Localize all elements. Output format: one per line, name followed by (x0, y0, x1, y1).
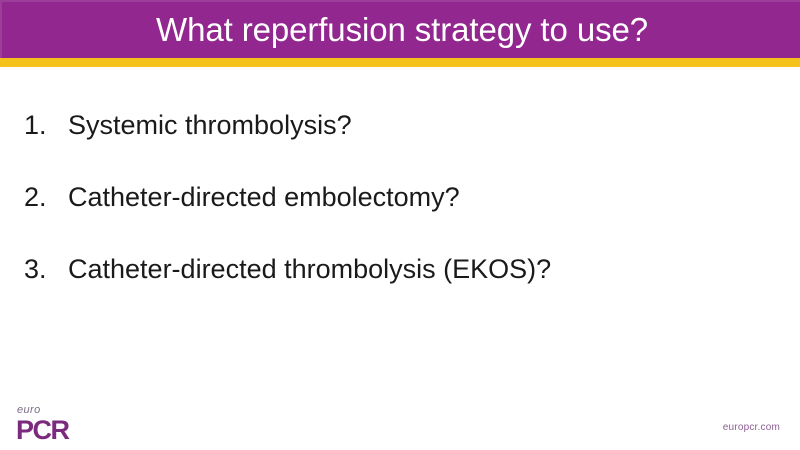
logo-pcr-text: PCR (16, 415, 69, 445)
list-item-number: 1. (24, 104, 64, 146)
list-item-label: Catheter-directed embolectomy? (68, 176, 460, 218)
europcr-logo: euro PCR (16, 404, 78, 446)
list-item: 3. Catheter-directed thrombolysis (EKOS)… (0, 248, 760, 320)
slide-canvas: What reperfusion strategy to use? 1. Sys… (0, 0, 800, 450)
footer-website-url: europcr.com (723, 421, 780, 434)
list-item-label: Systemic thrombolysis? (68, 104, 352, 146)
list-item-number: 2. (24, 176, 64, 218)
title-band: What reperfusion strategy to use? (0, 0, 800, 58)
numbered-list: 1. Systemic thrombolysis? 2. Catheter-di… (0, 104, 760, 320)
accent-divider (0, 58, 800, 67)
list-item-label: Catheter-directed thrombolysis (EKOS)? (68, 248, 551, 290)
list-item-number: 3. (24, 248, 64, 290)
list-item: 2. Catheter-directed embolectomy? (0, 176, 760, 248)
page-title: What reperfusion strategy to use? (2, 2, 800, 60)
list-item: 1. Systemic thrombolysis? (0, 104, 760, 176)
